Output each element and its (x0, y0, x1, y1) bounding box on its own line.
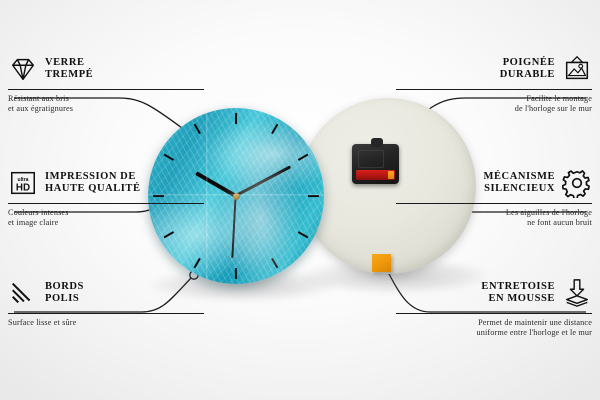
feature-title: BORDS POLIS (45, 281, 84, 306)
feature-divider (396, 203, 592, 204)
feature-desc-line2: de l'horloge sur le mur (396, 104, 592, 114)
diamond-icon (8, 54, 38, 84)
feature-desc-line2: et image claire (8, 218, 204, 228)
feature-verre-trempe: VERRE TREMPÉ Résistant aux bris et aux é… (8, 52, 204, 114)
feature-title: VERRE TREMPÉ (45, 57, 93, 82)
hour-tick (164, 154, 174, 161)
feature-header: POIGNÉE DURABLE (396, 52, 592, 86)
second-hand (232, 196, 237, 258)
feature-title: ENTRETOISE EN MOUSSE (481, 281, 555, 306)
hour-tick (298, 231, 308, 238)
feature-divider (8, 89, 204, 90)
product-feature-infographic: VERRE TREMPÉ Résistant aux bris et aux é… (0, 0, 600, 400)
mechanism-hanger-tab (371, 138, 383, 147)
svg-text:HD: HD (16, 183, 30, 194)
feature-divider (8, 203, 204, 204)
hour-tick (308, 195, 319, 197)
battery-icon (356, 170, 395, 180)
feature-divider (396, 313, 592, 314)
hour-tick (164, 231, 174, 238)
feature-title: IMPRESSION DE HAUTE QUALITÉ (45, 171, 141, 196)
hour-tick (271, 124, 278, 134)
feature-desc-line1: Résistant aux bris (8, 94, 204, 104)
feature-desc-line1: Surface lisse et sûre (8, 318, 204, 328)
hour-tick (235, 113, 237, 124)
hour-tick (271, 258, 278, 268)
feature-header: BORDS POLIS (8, 276, 204, 310)
feature-header: ultra HD IMPRESSION DE HAUTE QUALITÉ (8, 166, 204, 200)
feature-desc-line2: ne font aucun bruit (396, 218, 592, 228)
feature-desc-line1: Couleurs intenses (8, 208, 204, 218)
feature-desc-line2: uniforme entre l'horloge et le mur (396, 328, 592, 338)
feature-poignee-durable: POIGNÉE DURABLE Facilite le montage de l… (396, 52, 592, 114)
feature-divider (8, 313, 204, 314)
feature-desc-line1: Permet de maintenir une distance (396, 318, 592, 328)
foam-spacer-icon (562, 278, 592, 308)
hand-center-cap (233, 193, 240, 200)
ultra-hd-icon: ultra HD (8, 168, 38, 198)
feature-mecanisme-silencieux: MÉCANISME SILENCIEUX Les aiguilles de l'… (396, 166, 592, 228)
hour-tick (298, 154, 308, 161)
clock-mechanism (352, 144, 399, 184)
feature-desc-line1: Facilite le montage (396, 94, 592, 104)
feature-header: ENTRETOISE EN MOUSSE (396, 276, 592, 310)
minute-hand (235, 165, 291, 197)
feature-bords-polis: BORDS POLIS Surface lisse et sûre (8, 276, 204, 328)
hour-tick (235, 268, 237, 279)
feature-title: MÉCANISME SILENCIEUX (484, 171, 555, 196)
feature-header: MÉCANISME SILENCIEUX (396, 166, 592, 200)
feature-divider (396, 89, 592, 90)
feature-desc-line2: et aux égratignures (8, 104, 204, 114)
wall-hanger-icon (562, 54, 592, 84)
feature-impression-haute-qualite: ultra HD IMPRESSION DE HAUTE QUALITÉ Cou… (8, 166, 204, 228)
mechanism-dial (358, 150, 384, 168)
feature-header: VERRE TREMPÉ (8, 52, 204, 86)
hour-tick (194, 124, 201, 134)
polished-edges-icon (8, 278, 38, 308)
feature-title: POIGNÉE DURABLE (500, 57, 555, 82)
foam-spacer-pad (372, 254, 391, 272)
feature-entretoise-en-mousse: ENTRETOISE EN MOUSSE Permet de maintenir… (396, 276, 592, 338)
feature-desc-line1: Les aiguilles de l'horloge (396, 208, 592, 218)
gear-icon (562, 168, 592, 198)
hour-tick (194, 258, 201, 268)
